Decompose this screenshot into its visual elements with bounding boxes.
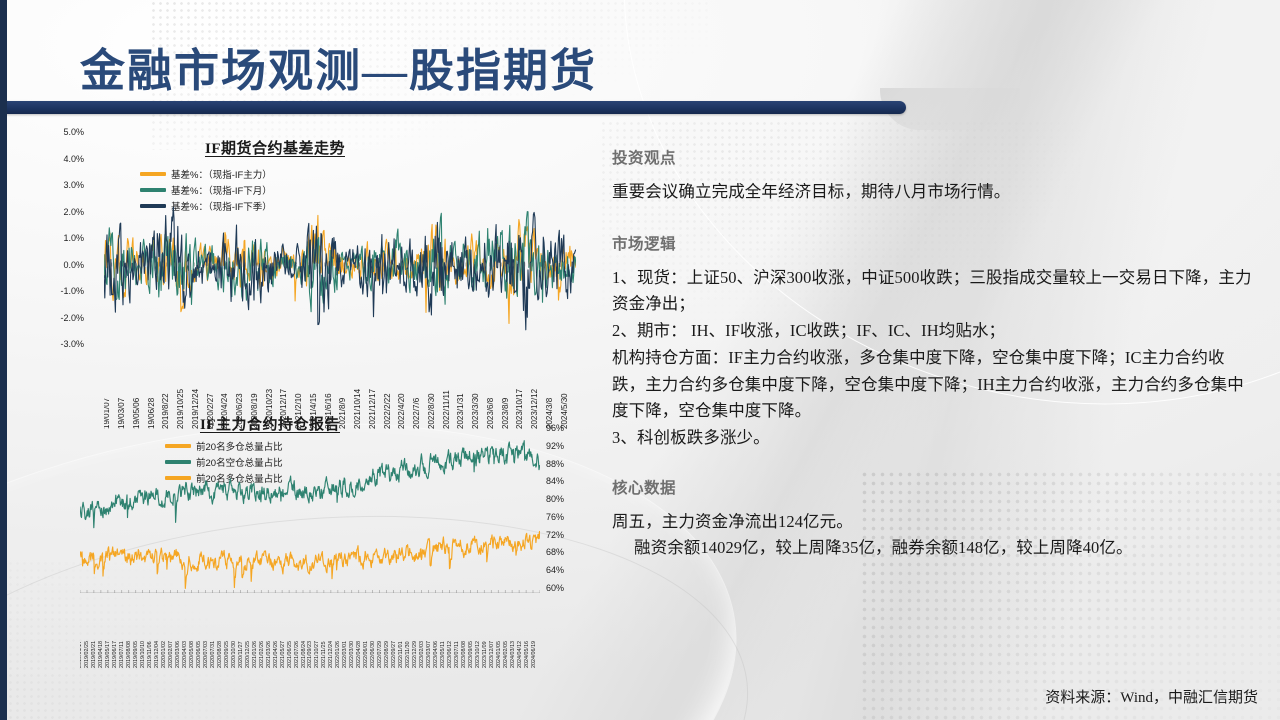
x-tick-label: 2023/02/03 bbox=[419, 641, 425, 668]
y-tick-label: 60% bbox=[546, 584, 588, 593]
y-tick-label: 88% bbox=[546, 460, 588, 469]
x-axis-ticks bbox=[104, 263, 576, 267]
x-tick-label: 2020/02/07 bbox=[168, 641, 174, 668]
logic-item: 2、期市： IH、IF收涨，IC收跌；IF、IC、IH均贴水； bbox=[612, 318, 1252, 345]
y-tick-label: 68% bbox=[546, 548, 588, 557]
x-tick-label: 2023/06/12 bbox=[447, 641, 453, 668]
x-tick-label: 2022/08/29 bbox=[384, 641, 390, 668]
x-tick-label: 2022/09/27 bbox=[391, 641, 397, 668]
x-tick-label: 2022/8/30 bbox=[427, 393, 436, 429]
x-tick-label: 2020/05/08 bbox=[189, 641, 195, 668]
x-tick-label: 2023/07/11 bbox=[454, 641, 460, 668]
page-title: 金融市场观测—股指期货 bbox=[80, 34, 597, 99]
x-tick-label: 2019/09/05 bbox=[133, 641, 139, 668]
y-tick-label: 80% bbox=[546, 495, 588, 504]
x-tick-label: 2023/05/11 bbox=[440, 641, 446, 668]
chart-position-plot bbox=[80, 433, 540, 593]
y-tick-label: 64% bbox=[546, 566, 588, 575]
x-tick-label: 2023/09/05 bbox=[468, 641, 474, 668]
x-tick-label: 2023/12/12 bbox=[530, 389, 539, 429]
x-tick-label: 2024/04/12 bbox=[517, 641, 523, 668]
y-tick-label: -2.0% bbox=[38, 314, 84, 323]
x-tick-label: 2020/07/03 bbox=[203, 641, 209, 668]
y-tick-label: 0.0% bbox=[38, 261, 84, 270]
title-header: 金融市场观测—股指期货 bbox=[0, 0, 1280, 118]
x-tick-label: 19/01/07 bbox=[104, 398, 111, 429]
x-tick-label: 2021/05/27 bbox=[280, 641, 286, 668]
x-tick-label: 2021/12/24 bbox=[328, 641, 334, 668]
y-tick-label: 76% bbox=[546, 513, 588, 522]
x-tick-label: 2024/06/19 bbox=[531, 641, 537, 668]
y-tick-label: -1.0% bbox=[38, 287, 84, 296]
x-tick-label: 2021/03/26 bbox=[266, 641, 272, 668]
x-tick-label: 2021/11/25 bbox=[321, 641, 327, 668]
x-axis-ticks bbox=[80, 590, 540, 593]
x-tick-label: 2023/11/09 bbox=[482, 641, 488, 668]
x-tick-label: 2023/6/8 bbox=[486, 398, 495, 429]
x-tick-label: 2024/01/05 bbox=[496, 641, 502, 668]
core-item: 融资余额14029亿，较上周降35亿，融券余额148亿，较上周降40亿。 bbox=[612, 535, 1252, 562]
y-tick-label: 3.0% bbox=[38, 181, 84, 190]
y-tick-label: 1.0% bbox=[38, 234, 84, 243]
x-tick-label: 2023/04/06 bbox=[433, 641, 439, 668]
x-tick-label: 2019/12/04 bbox=[154, 641, 160, 668]
x-tick-label: 2022/04/28 bbox=[356, 641, 362, 668]
x-tick-label: 2022/06/01 bbox=[363, 641, 369, 668]
x-tick-label: 2019/04/18 bbox=[98, 641, 104, 668]
y-tick-label: 2.0% bbox=[38, 208, 84, 217]
x-tick-label: 2021/02/26 bbox=[259, 641, 265, 668]
section-heading-logic: 市场逻辑 bbox=[612, 232, 1252, 254]
x-tick-label: 2020/08/28 bbox=[217, 641, 223, 668]
x-tick-label: 2022/07/29 bbox=[377, 641, 383, 668]
x-tick-label: 2022/4/20 bbox=[397, 393, 406, 429]
x-tick-label: 2019/02/25 bbox=[84, 641, 90, 668]
x-tick-label: 2019/05/17 bbox=[105, 641, 111, 668]
x-tick-label: 2021/10/27 bbox=[314, 641, 320, 668]
view-body-text: 重要会议确立完成全年经济目标，期待八月市场行情。 bbox=[612, 179, 1252, 206]
x-tick-label: 2020/07/31 bbox=[210, 641, 216, 668]
x-tick-label: 2023/08/08 bbox=[461, 641, 467, 668]
y-tick-label: 84% bbox=[546, 477, 588, 486]
x-tick-label: 2019/08/08 bbox=[126, 641, 132, 668]
y-tick-label: -3.0% bbox=[38, 340, 84, 349]
x-tick-label: 2022/01/26 bbox=[335, 641, 341, 668]
x-tick-label: 2022/12/29 bbox=[412, 641, 418, 668]
y-tick-label: 92% bbox=[546, 442, 588, 451]
left-accent-rail bbox=[0, 0, 7, 720]
x-tick-label: 2020/06/05 bbox=[196, 641, 202, 668]
x-tick-label: 2023/03/07 bbox=[426, 641, 432, 668]
x-tick-label: 2021/08/24 bbox=[301, 641, 307, 668]
x-tick-label: 2023/1/31 bbox=[456, 393, 465, 429]
chart-basis-plot bbox=[104, 133, 576, 345]
x-tick-label: 2024/02/05 bbox=[503, 641, 509, 668]
x-tick-label: 2023/10/17 bbox=[515, 389, 524, 429]
core-item: 周五，主力资金净流出124亿元。 bbox=[612, 509, 1252, 536]
x-tick-label: 2022/03/01 bbox=[342, 641, 348, 668]
x-tick-label: 2020/04/03 bbox=[182, 641, 188, 668]
x-tick-label: 2023/10/12 bbox=[475, 641, 481, 668]
x-tick-label: 2020/12/25 bbox=[245, 641, 251, 668]
chart-position-title: IF主力合约持仓报告 bbox=[150, 413, 390, 434]
x-tick-label: 19/05/06 bbox=[132, 398, 141, 429]
y-tick-label: 4.0% bbox=[38, 155, 84, 164]
logic-item: 3、科创板跌多涨少。 bbox=[612, 425, 1252, 452]
x-tick-label: 2021/06/25 bbox=[287, 641, 293, 668]
x-tick-label: 2019/01/17 bbox=[80, 641, 83, 668]
y-tick-label: 96% bbox=[546, 424, 588, 433]
source-note: 资料来源：Wind，中融汇信期货 bbox=[1045, 686, 1258, 707]
chart-series-line bbox=[80, 441, 540, 528]
x-tick-label: 19/03/07 bbox=[117, 398, 126, 429]
x-tick-label: 2022/11/30 bbox=[405, 641, 411, 668]
chart-position-x-axis: 2019/01/172019/02/252019/03/212019/04/18… bbox=[80, 598, 540, 668]
x-tick-label: 2023/8/9 bbox=[501, 398, 510, 429]
x-tick-label: 2023/12/07 bbox=[489, 641, 495, 668]
x-tick-label: 2020/03/06 bbox=[175, 641, 181, 668]
x-tick-label: 2021/04/26 bbox=[273, 641, 279, 668]
x-tick-label: 2019/06/17 bbox=[112, 641, 118, 668]
title-underline-bar bbox=[0, 101, 906, 114]
logic-item: 1、现货：上证50、沪深300收涨，中证500收跌；三股指成交量较上一交易日下降… bbox=[612, 265, 1252, 318]
x-tick-label: 2022/7/6 bbox=[412, 398, 421, 429]
x-tick-label: 2023/3/30 bbox=[471, 393, 480, 429]
x-tick-label: 2022/06/30 bbox=[370, 641, 376, 668]
logic-item: 机构持仓方面：IF主力合约收涨，多仓集中度下降，空仓集中度下降；IC主力合约收跌… bbox=[612, 345, 1252, 425]
x-tick-label: 2021/01/26 bbox=[252, 641, 258, 668]
x-tick-label: 2022/03/30 bbox=[349, 641, 355, 668]
x-tick-label: 2022/11/11 bbox=[442, 390, 451, 429]
x-tick-label: 2021/07/26 bbox=[294, 641, 300, 668]
analysis-column: 投资观点 重要会议确立完成全年经济目标，期待八月市场行情。 市场逻辑 1、现货：… bbox=[612, 146, 1252, 562]
x-tick-label: 2019/03/21 bbox=[91, 641, 97, 668]
section-heading-view: 投资观点 bbox=[612, 146, 1252, 168]
x-tick-label: 2019/10/10 bbox=[140, 641, 146, 668]
y-tick-label: 72% bbox=[546, 531, 588, 540]
x-tick-label: 2021/09/23 bbox=[307, 641, 313, 668]
charts-column: IF期货合约基差走势 基差%：（现指-IF主力） 基差%：（现指-IF下月） 基… bbox=[30, 125, 595, 700]
x-tick-label: 2019/11/06 bbox=[147, 641, 153, 668]
x-tick-label: 2022/11/01 bbox=[398, 641, 404, 668]
x-tick-label: 2020/01/02 bbox=[161, 641, 167, 668]
x-tick-label: 2019/07/11 bbox=[119, 641, 125, 668]
section-heading-core: 核心数据 bbox=[612, 476, 1252, 498]
x-tick-label: 2020/11/27 bbox=[238, 641, 244, 668]
x-tick-label: 2020/10/30 bbox=[231, 641, 237, 668]
y-tick-label: 5.0% bbox=[38, 128, 84, 137]
chart-series-line bbox=[80, 531, 540, 588]
x-tick-label: 2024/03/13 bbox=[510, 641, 516, 668]
x-tick-label: 2024/05/16 bbox=[524, 641, 530, 668]
x-tick-label: 2020/09/25 bbox=[224, 641, 230, 668]
